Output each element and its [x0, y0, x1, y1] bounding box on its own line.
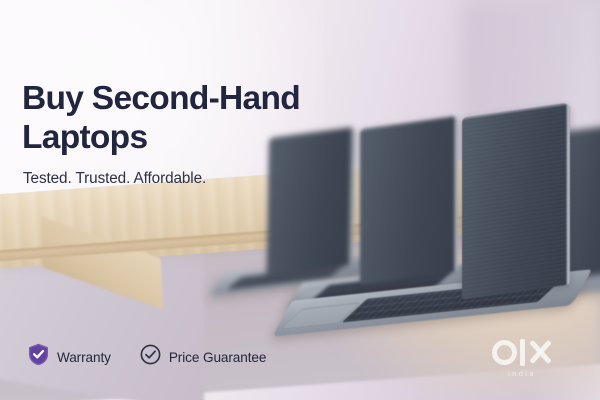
circle-check-icon	[140, 344, 161, 370]
laptop-screen	[360, 115, 458, 285]
olx-letter-l-icon	[520, 339, 525, 366]
olx-wordmark	[466, 336, 578, 368]
page-title: Buy Second-Hand Laptops	[22, 79, 352, 157]
shield-check-icon	[28, 343, 49, 371]
badge-warranty-label: Warranty	[57, 350, 111, 365]
olx-sub-label: india	[466, 369, 578, 378]
badge-price-guarantee-label: Price Guarantee	[169, 350, 267, 365]
badge-price-guarantee: Price Guarantee	[140, 344, 267, 370]
promo-banner: Buy Second-Hand Laptops Tested. Trusted.…	[0, 0, 600, 400]
badge-warranty: Warranty	[28, 343, 111, 371]
olx-letter-x-icon	[528, 340, 553, 365]
olx-logo-watermark: india	[466, 336, 578, 378]
olx-letter-o-icon	[492, 340, 517, 365]
subtitle: Tested. Trusted. Affordable.	[23, 170, 206, 188]
laptop-screen	[462, 102, 570, 299]
screen-bezel-right	[566, 102, 570, 285]
trust-badges: Warranty Price Guarantee	[28, 343, 266, 371]
screen-bezel-right	[454, 115, 458, 272]
